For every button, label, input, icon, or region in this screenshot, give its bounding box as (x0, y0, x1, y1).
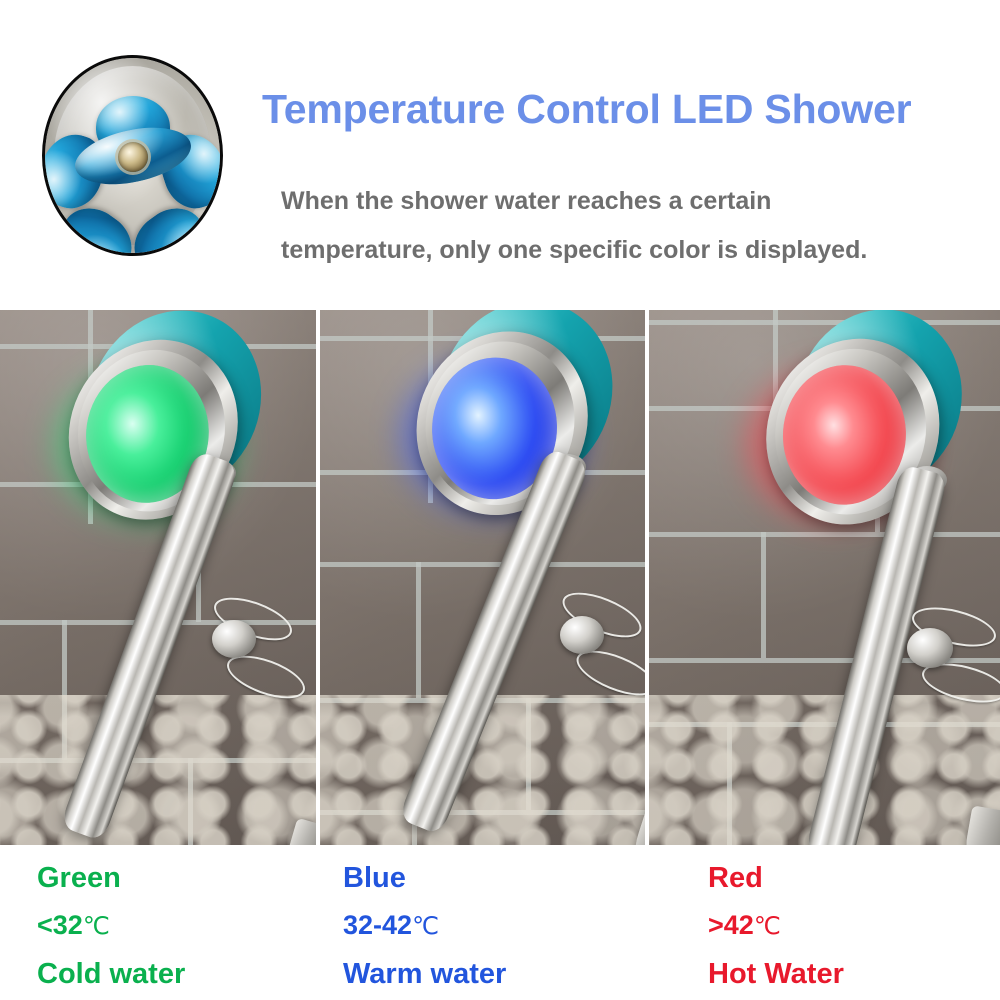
blue-shower-photo (320, 310, 645, 845)
photo-strip (0, 310, 1000, 845)
legend-color-name: Red (708, 845, 844, 901)
legend-temperature-range: 32-42℃ (343, 901, 506, 951)
flow-control-knob[interactable] (212, 620, 256, 658)
water-droplets (0, 695, 316, 845)
legend-item-green: Green <32℃ Cold water (37, 845, 185, 998)
legend-item-red: Red >42℃ Hot Water (708, 845, 844, 998)
shower-head-face-thumbnail (42, 55, 223, 256)
turbine-hub-icon (118, 142, 148, 172)
legend-water-label: Cold water (37, 951, 185, 998)
infographic-page: Temperature Control LED Shower When the … (0, 0, 1000, 1000)
legend-temp-value: >42 (708, 910, 754, 940)
legend-item-blue: Blue 32-42℃ Warm water (343, 845, 506, 998)
header-section: Temperature Control LED Shower When the … (0, 0, 1000, 300)
legend-temp-value: 32-42 (343, 910, 412, 940)
legend-color-name: Green (37, 845, 185, 901)
legend-row: Green <32℃ Cold water Blue 32-42℃ Warm w… (0, 845, 1000, 1000)
degree-celsius-icon: ℃ (754, 913, 781, 940)
green-shower-photo (0, 310, 316, 845)
subtitle-line-2: temperature, only one specific color is … (281, 226, 981, 275)
legend-color-name: Blue (343, 845, 506, 901)
thumbnail-photo (45, 58, 220, 253)
legend-temp-value: <32 (37, 910, 83, 940)
red-shower-photo (649, 310, 1000, 845)
page-title: Temperature Control LED Shower (262, 86, 972, 133)
legend-water-label: Hot Water (708, 951, 844, 998)
legend-water-label: Warm water (343, 951, 506, 998)
flow-control-knob[interactable] (560, 616, 604, 654)
legend-temperature-range: >42℃ (708, 901, 844, 951)
degree-celsius-icon: ℃ (83, 913, 110, 940)
flow-control-knob[interactable] (907, 628, 953, 668)
subtitle-line-1: When the shower water reaches a certain (281, 177, 981, 226)
page-subtitle: When the shower water reaches a certain … (281, 177, 981, 275)
legend-temperature-range: <32℃ (37, 901, 185, 951)
degree-celsius-icon: ℃ (412, 913, 439, 940)
